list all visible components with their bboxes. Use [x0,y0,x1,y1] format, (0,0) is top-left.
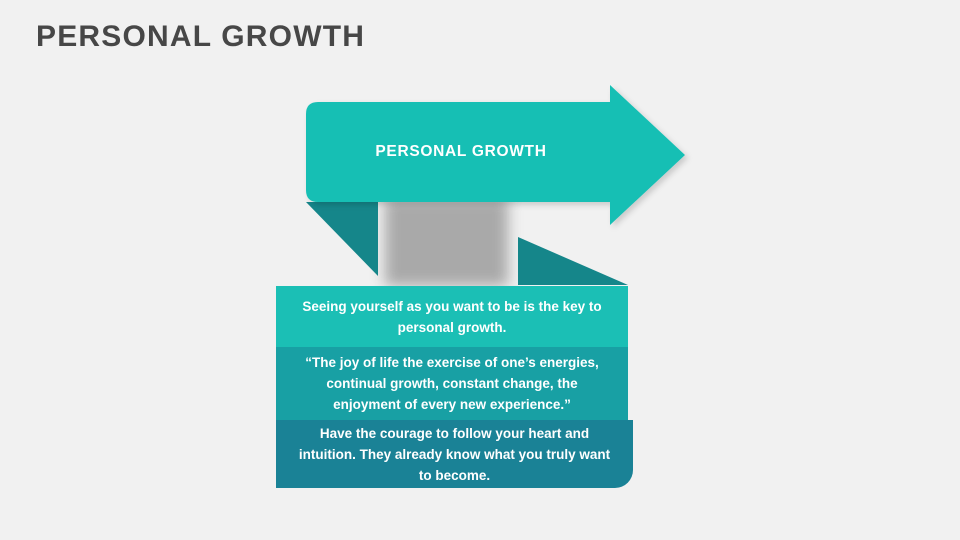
banner-label: PERSONAL GROWTH [306,143,616,161]
left-fold-triangle [306,202,378,276]
right-fold-triangle-shape [518,237,628,285]
quote-panel-1-text: Seeing yourself as you want to be is the… [292,296,612,338]
quote-panel-3-text: Have the courage to follow your heart an… [292,423,617,486]
slide-canvas: PERSONAL GROWTH PERSONAL GROWTH Seeing y… [0,0,960,540]
arrow-banner-shape[interactable] [296,76,696,291]
quote-panel-2[interactable]: “The joy of life the exercise of one’s e… [276,347,628,420]
personal-growth-diagram: PERSONAL GROWTH Seeing yourself as you w… [0,0,960,540]
quote-panel-2-text: “The joy of life the exercise of one’s e… [292,352,612,415]
quote-panel-1[interactable]: Seeing yourself as you want to be is the… [276,286,628,347]
quote-panel-3[interactable]: Have the courage to follow your heart an… [276,420,633,488]
